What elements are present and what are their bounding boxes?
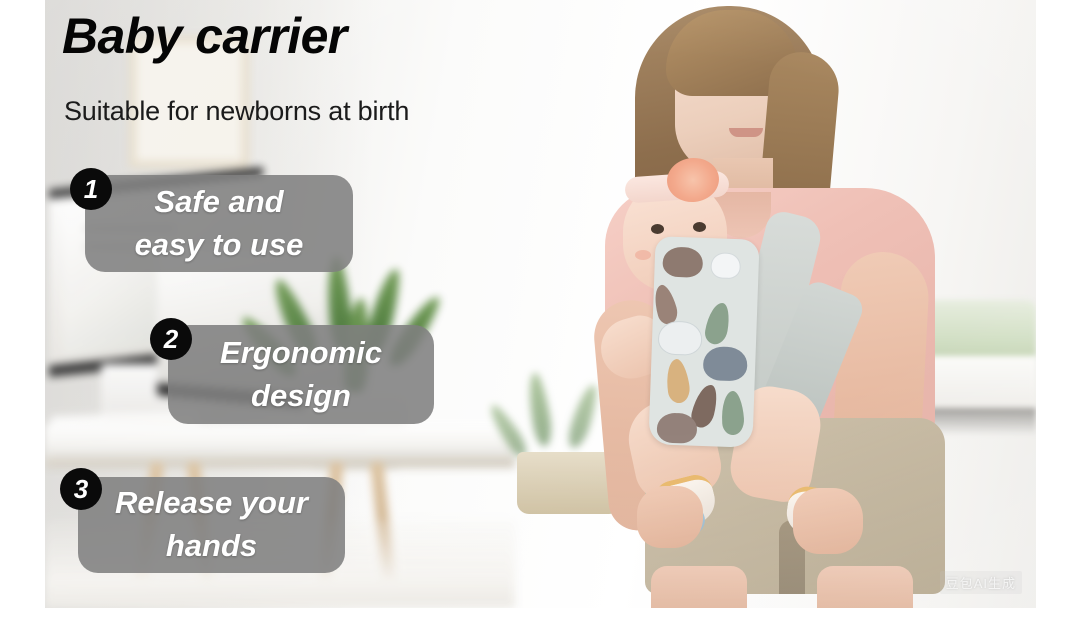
mother-hand bbox=[637, 486, 703, 548]
page-subtitle: Suitable for newborns at birth bbox=[64, 96, 409, 127]
baby-eye bbox=[693, 222, 706, 232]
feature-label-1: Safe and easy to use bbox=[85, 175, 353, 272]
mother-thigh bbox=[651, 566, 747, 608]
feature-label-3: Release your hands bbox=[78, 477, 345, 573]
baby-eye bbox=[651, 224, 664, 234]
baby-carrier-panel bbox=[648, 236, 759, 448]
feature-label-2: Ergonomic design bbox=[168, 325, 434, 424]
mother-thigh bbox=[817, 566, 913, 608]
feature-number-badge-3: 3 bbox=[60, 468, 102, 510]
ai-watermark: 豆包AI生成 bbox=[940, 571, 1022, 594]
baby-cheek bbox=[635, 250, 651, 260]
poster-canvas: 豆包AI生成 Baby carrier Suitable for newborn… bbox=[0, 0, 1078, 618]
feature-number-badge-1: 1 bbox=[70, 168, 112, 210]
mother-mouth bbox=[729, 128, 763, 137]
page-title: Baby carrier bbox=[62, 10, 347, 63]
feature-number-badge-2: 2 bbox=[150, 318, 192, 360]
mother-hand bbox=[793, 488, 863, 554]
